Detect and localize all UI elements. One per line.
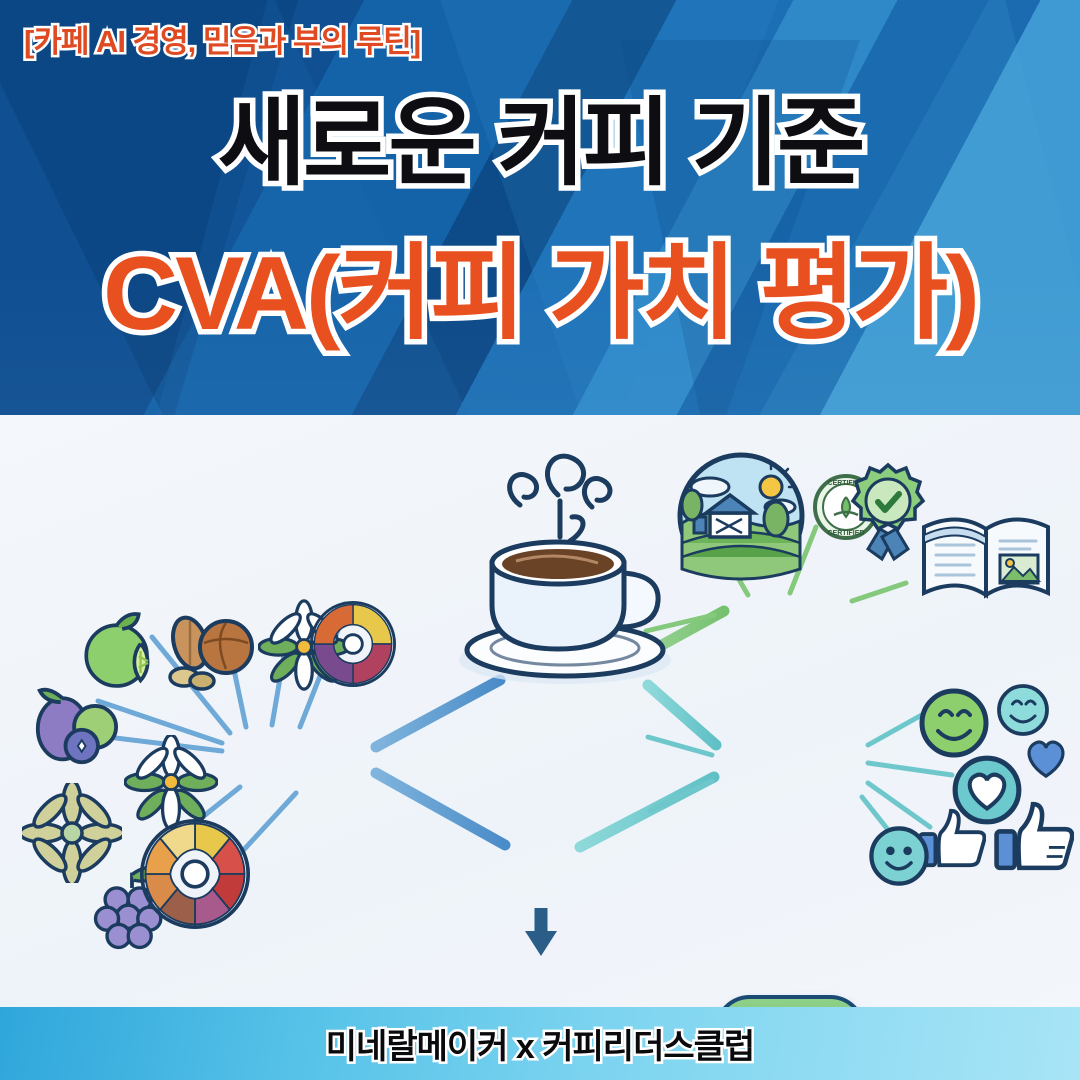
infographic-diagram: CVA (커피 가치 평가) xyxy=(0,415,1080,1007)
footer-text: 미네랄메이커 x 커피리더스클럽 xyxy=(326,1019,754,1068)
node-extrinsic[interactable]: 외부적 평가 (Extrinsic) xyxy=(714,995,866,1007)
header-title: 새로운 커피 기준 xyxy=(0,92,1080,196)
open-book-icon xyxy=(916,493,1056,613)
header-banner: [카페 AI 경영, 믿음과 부의 루틴] 새로운 커피 기준 CVA(커피 가… xyxy=(0,0,1080,415)
white-flower-icon xyxy=(124,735,218,829)
certified-badge-icon: CERTIFIED CERTIFIED xyxy=(806,453,934,581)
coffee-cup-icon xyxy=(440,445,690,695)
thumbs-up-large-icon xyxy=(992,797,1074,875)
header-tagline: [카페 AI 경영, 믿음과 부의 루틴] xyxy=(24,16,420,61)
heart-blue-icon xyxy=(1022,733,1070,781)
almond-nuts-icon xyxy=(160,605,260,693)
smiley-teal-small-icon xyxy=(996,683,1050,737)
flavor-wheel-icon xyxy=(140,819,250,929)
plum-blueberry-icon xyxy=(28,683,124,767)
farm-landscape-icon xyxy=(676,451,806,581)
footer-bar: 미네랄메이커 x 커피리더스클럽 xyxy=(0,1007,1080,1080)
header-subtitle: CVA(커피 가치 평가) xyxy=(0,238,1080,350)
flavor-wheel-small-icon xyxy=(310,601,396,687)
smiley-green-icon xyxy=(918,687,990,759)
certified-badge-label-bottom: CERTIFIED xyxy=(828,530,865,537)
smiley-teal-icon xyxy=(868,825,930,887)
